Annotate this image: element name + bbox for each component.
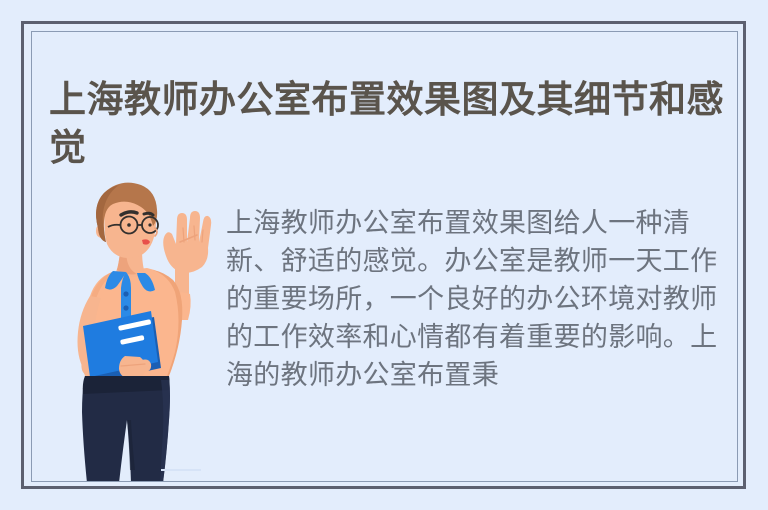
article-card-image: 上海教师办公室布置效果图及其细节和感觉 上海教师办公室布置效果图给人一种清新、舒… bbox=[0, 0, 768, 510]
inner-frame: 上海教师办公室布置效果图及其细节和感觉 上海教师办公室布置效果图给人一种清新、舒… bbox=[31, 31, 738, 482]
teacher-illustration bbox=[49, 180, 219, 482]
article-body-text: 上海教师办公室布置效果图给人一种清新、舒适的感觉。办公室是教师一天工作的重要场所… bbox=[226, 204, 738, 394]
page-title: 上海教师办公室布置效果图及其细节和感觉 bbox=[49, 76, 729, 172]
